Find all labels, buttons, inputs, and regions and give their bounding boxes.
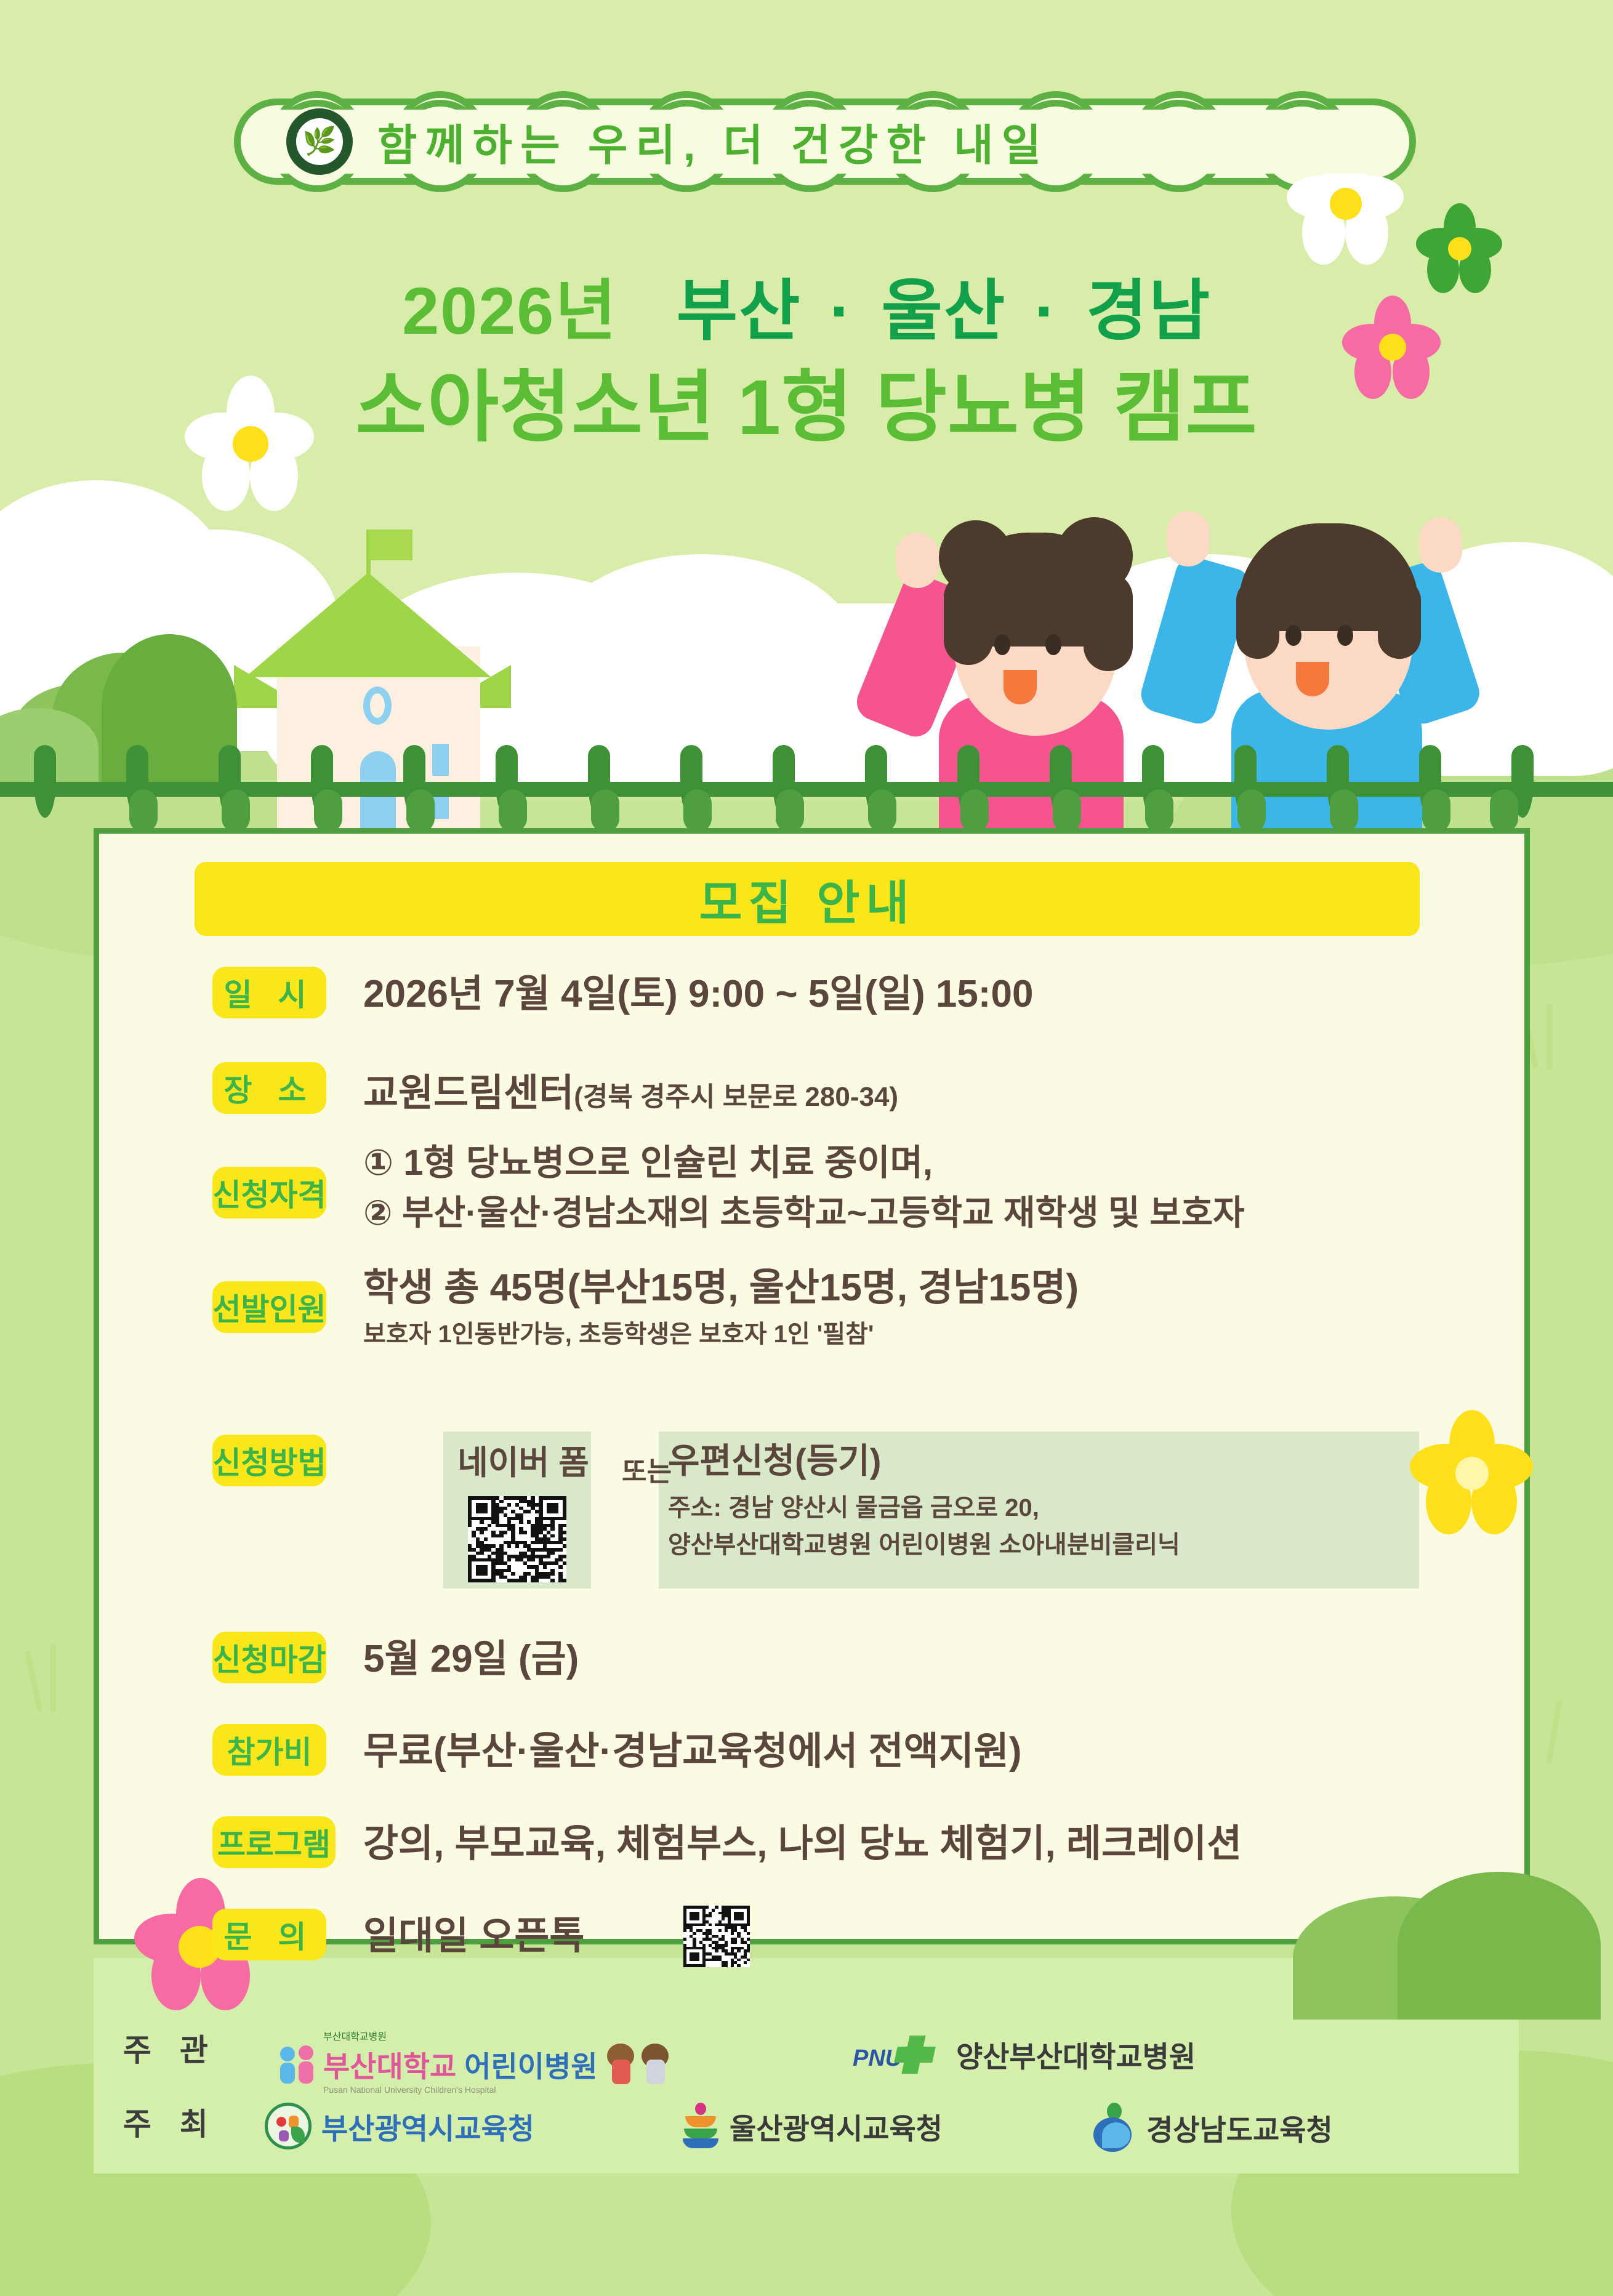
row-value-date: 2026년 7월 4일(토) 9:00 ~ 5일(일) 15:00 xyxy=(363,972,1033,1017)
row-method: 신청방법 xyxy=(212,1435,326,1486)
apply-method-postal-label: 우편신청(등기) xyxy=(668,1441,1180,1481)
row-deadline: 신청마감 5월 29일 (금) xyxy=(212,1632,579,1683)
row-tag-date: 일 시 xyxy=(212,967,326,1018)
row-inquiry: 문 의 일대일 오픈톡 xyxy=(212,1909,584,1960)
poster-root: 🌿 함께하는 우리, 더 건강한 내일 2026년 부산 · 울산 · 경남 소… xyxy=(0,0,1613,2296)
row-quota: 선발인원 학생 총 45명(부산15명, 울산15명, 경남15명) 보호자 1… xyxy=(212,1265,1079,1351)
house-roof xyxy=(245,573,491,677)
row-place: 장 소 교원드림센터 (경북 경주시 보문로 280-34) xyxy=(212,1062,898,1116)
sprout-icon: 🌿 xyxy=(303,128,337,155)
open-chat-qr-code[interactable] xyxy=(683,1906,750,1967)
flower-yellow-right xyxy=(1410,1410,1533,1533)
footer-organizer-name-busan: 부산광역시교육청 xyxy=(321,2105,534,2148)
grass-blade xyxy=(50,1644,56,1713)
flag-icon xyxy=(369,530,412,560)
row-value-place-sub: (경북 경주시 보문로 280-34) xyxy=(574,1081,898,1114)
row-tag-eligibility: 신청자격 xyxy=(212,1167,326,1218)
footer-organizer-name-ulsan: 울산광역시교육청 xyxy=(730,2105,943,2148)
binder-ring xyxy=(1237,789,1266,832)
footer-host-name-pnuyh: 양산부산대학교병원 xyxy=(956,2033,1196,2076)
footer-organizer-busan: 부산광역시교육청 xyxy=(265,2103,534,2149)
bush-3 xyxy=(102,634,237,782)
boy-left-hand xyxy=(1167,511,1210,566)
title-dot-2: · xyxy=(1026,273,1066,348)
slogan-banner: 🌿 함께하는 우리, 더 건강한 내일 xyxy=(234,99,1416,185)
house-window-right-upper xyxy=(432,744,449,776)
apply-method-address-1: 주소: 경남 양산시 물금읍 금오로 20, xyxy=(668,1491,1180,1525)
title-city-gyeongnam: 경남 xyxy=(1086,273,1211,348)
title-city-busan: 부산 xyxy=(677,273,802,348)
apply-method-postal: 우편신청(등기) 주소: 경남 양산시 물금읍 금오로 20, 양산부산대학교병… xyxy=(668,1441,1180,1561)
slogan-text: 함께하는 우리, 더 건강한 내일 xyxy=(377,111,1049,173)
footer-host-label: 주 관 xyxy=(123,2026,218,2070)
row-value-inquiry: 일대일 오픈톡 xyxy=(363,1914,584,1959)
row-value-deadline: 5월 29일 (금) xyxy=(363,1637,579,1682)
row-tag-quota: 선발인원 xyxy=(212,1281,326,1333)
children-mascot-icon xyxy=(606,2041,674,2085)
row-tag-method: 신청방법 xyxy=(212,1435,326,1486)
girl-hair-bun-right xyxy=(1056,517,1133,594)
title-dot-1: · xyxy=(821,273,861,348)
binder-ring xyxy=(683,789,712,832)
row-fee: 참가비 무료(부산·울산·경남교육청에서 전액지원) xyxy=(212,1724,1022,1776)
footer-host-sub-ko: 부산대학교병원 xyxy=(323,2032,597,2043)
row-value-eligibility-2: ② 부산·울산·경남소재의 초등학교~고등학교 재학생 및 보호자 xyxy=(363,1193,1245,1233)
house-oval-window xyxy=(363,687,392,725)
footer-host-sub-en: Pusan National University Children's Hos… xyxy=(323,2085,597,2095)
footer-host-pnuyh: PNU 양산부산대학교병원 xyxy=(853,2032,1196,2076)
title-city-ulsan: 울산 xyxy=(881,273,1006,348)
girl-hair-bun-left xyxy=(939,520,1013,594)
footer-host-name-part1: 부산대학교 어린이병원 xyxy=(323,2050,597,2083)
apply-method-address-2: 양산부산대학교병원 어린이병원 소아내분비클리닉 xyxy=(668,1528,1180,1561)
row-value-fee: 무료(부산·울산·경남교육청에서 전액지원) xyxy=(363,1729,1022,1774)
binder-ring xyxy=(129,789,158,832)
footer-organizer-gyeongnam: 경상남도교육청 xyxy=(1090,2103,1333,2152)
row-eligibility: 신청자격 ① 1형 당뇨병으로 인슐린 치료 중이며, ② 부산·울산·경남소재… xyxy=(212,1142,1245,1234)
binder-ring xyxy=(406,789,435,832)
girl-left-hand xyxy=(896,533,939,588)
row-tag-fee: 참가비 xyxy=(212,1724,326,1776)
binder-ring xyxy=(314,789,342,832)
apply-method-naver[interactable]: 네이버 폼 xyxy=(431,1444,616,1483)
row-tag-place: 장 소 xyxy=(212,1062,326,1114)
footer-organizer-label: 주 최 xyxy=(123,2100,218,2144)
binder-ring xyxy=(222,789,250,832)
boy-eye-left xyxy=(1285,625,1301,646)
girl-mouth xyxy=(1004,670,1037,704)
row-tag-deadline: 신청마감 xyxy=(212,1632,326,1683)
row-date: 일 시 2026년 7월 4일(토) 9:00 ~ 5일(일) 15:00 xyxy=(212,967,1033,1018)
bush-bottom-right-2 xyxy=(1398,1872,1601,2020)
fence-picket xyxy=(34,745,56,818)
row-value-quota-1: 학생 총 45명(부산15명, 울산15명, 경남15명) xyxy=(363,1265,1079,1310)
boy-hair-side-left xyxy=(1236,579,1279,659)
gyeongnam-education-office-logo-icon xyxy=(1090,2103,1138,2152)
footer-organizer-row: 주 최 xyxy=(123,2100,218,2144)
ulsan-education-office-logo-icon xyxy=(680,2103,721,2149)
footer-organizer-ulsan: 울산광역시교육청 xyxy=(680,2103,943,2149)
row-value-eligibility-1: ① 1형 당뇨병으로 인슐린 치료 중이며, xyxy=(363,1142,1245,1184)
apply-method-naver-label: 네이버 폼 xyxy=(431,1444,616,1483)
row-tag-inquiry: 문 의 xyxy=(212,1909,326,1960)
row-program: 프로그램 강의, 부모교육, 체험부스, 나의 당뇨 체험기, 레크레이션 xyxy=(212,1816,1242,1868)
boy-mouth xyxy=(1296,662,1329,696)
naver-form-qr-code[interactable] xyxy=(468,1496,566,1582)
girl-eye-left xyxy=(994,634,1010,655)
apply-method-conjunction: 또는 xyxy=(622,1456,672,1489)
binder-ring xyxy=(1490,789,1518,832)
footer-host-pnu-childrens: 부산대학교병원 부산대학교 어린이병원 Pusan National Unive… xyxy=(280,2032,674,2095)
boy-hair-side-right xyxy=(1378,579,1421,659)
section-heading: 모집 안내 xyxy=(195,862,1420,936)
binder-ring xyxy=(868,789,896,832)
binder-ring xyxy=(1422,789,1450,832)
girl-eye-right xyxy=(1045,634,1061,655)
pnu-children-mark-icon xyxy=(280,2042,315,2085)
binder-ring xyxy=(776,789,804,832)
flower-pink-top-right xyxy=(1342,296,1441,394)
pnu-logo-icon: PNU xyxy=(853,2032,945,2076)
flower-green-top-right xyxy=(1416,203,1502,289)
row-value-place-main: 교원드림센터 xyxy=(363,1071,574,1116)
flower-white-left xyxy=(185,376,314,505)
footer-organizer-name-gyeongnam: 경상남도교육청 xyxy=(1146,2106,1333,2149)
binder-ring xyxy=(1053,789,1081,832)
boy-eye-right xyxy=(1337,625,1353,646)
footer-host-row: 주 관 xyxy=(123,2026,218,2070)
row-value-program: 강의, 부모교육, 체험부스, 나의 당뇨 체험기, 레크레이션 xyxy=(363,1821,1242,1866)
camp-emblem-icon: 🌿 xyxy=(286,108,353,175)
row-value-quota-2: 보호자 1인동반가능, 초등학생은 보호자 1인 '필참' xyxy=(363,1318,1079,1351)
boy-right-hand xyxy=(1419,517,1462,573)
binder-ring xyxy=(1330,789,1358,832)
row-tag-program: 프로그램 xyxy=(212,1816,336,1868)
binder-ring xyxy=(1145,789,1173,832)
binder-ring xyxy=(591,789,619,832)
grass-blade xyxy=(1547,1004,1552,1070)
binder-ring xyxy=(499,789,527,832)
binder-ring xyxy=(960,789,989,832)
busan-education-office-logo-icon xyxy=(265,2103,312,2149)
title-year: 2026년 xyxy=(402,273,617,348)
